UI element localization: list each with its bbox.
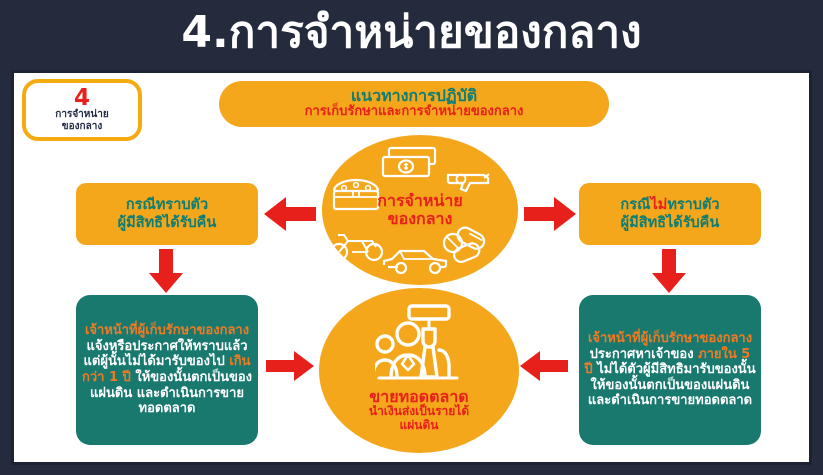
condition-unknown-line2: ผู้มีสิทธิได้รับคืน (621, 215, 720, 231)
auction-gavel-icon (375, 302, 463, 394)
car-icon (380, 243, 452, 275)
header-subtitle: การเก็บรักษาและการจำหน่ายของกลาง (305, 105, 524, 119)
arrow-known-condition-to-result (149, 249, 183, 293)
condition-unknown-suffix: ทราบตัว (667, 197, 719, 213)
result-unknown-seg1: เจ้าหน้าที่ผู้เก็บรักษาของกลาง (588, 331, 752, 346)
auction-node: ขายทอดตลาด นำเงินส่งเป็นรายได้ แผ่นดิน (319, 288, 519, 453)
banknote-icon (380, 145, 440, 179)
arrow-unknown-condition-to-result (652, 249, 686, 293)
step-number: 4 (74, 88, 90, 110)
center-node-line1: การจำหน่าย (377, 191, 462, 210)
center-node-line2: ของกลาง (388, 209, 453, 228)
result-known-owner: เจ้าหน้าที่ผู้เก็บรักษาของกลาง แจ้งหรือป… (76, 295, 258, 445)
header-banner: แนวทางการปฏิบัติ การเก็บรักษาและการจำหน่… (219, 81, 609, 127)
header-title: แนวทางการปฏิบัติ (351, 88, 477, 105)
condition-unknown-owner: กรณีไม่ทราบตัว ผู้มีสิทธิได้รับคืน (579, 183, 761, 245)
condition-known-owner: กรณีทราบตัว ผู้มีสิทธิได้รับคืน (76, 183, 258, 245)
step-label-line1: การจำหน่าย (55, 109, 108, 121)
result-unknown-owner: เจ้าหน้าที่ผู้เก็บรักษาของกลาง ประกาศหาเ… (579, 295, 761, 445)
motorcycle-icon (328, 227, 386, 263)
arrow-center-to-left (264, 197, 316, 231)
step-number-badge: 4 การจำหน่าย ของกลาง (22, 79, 142, 141)
condition-known-line1: กรณีทราบตัว (126, 197, 208, 213)
condition-known-line2: ผู้มีสิทธิได้รับคืน (118, 215, 217, 231)
result-unknown-seg2: ประกาศหาเจ้าของ (590, 347, 698, 362)
page-title: 4.การจำหน่ายของกลาง (0, 0, 823, 70)
auction-subtitle-line2: แผ่นดิน (400, 419, 439, 433)
condition-unknown-prefix: กรณี (620, 197, 650, 213)
center-node: การจำหน่าย ของกลาง (322, 135, 518, 285)
step-label-line2: ของกลาง (62, 121, 102, 133)
result-unknown-seg4: ไม่ได้ตัวผู้มีสิทธิมารับของนั้น ให้ของนั… (588, 362, 756, 408)
arrow-known-result-to-auction (266, 351, 314, 381)
auction-subtitle-line1: นำเงินส่งเป็นรายได้ (369, 405, 469, 419)
result-known-seg1: เจ้าหน้าที่ผู้เก็บรักษาของกลาง (85, 323, 249, 338)
infographic-panel: 4 การจำหน่าย ของกลาง แนวทางการปฏิบัติ กา… (11, 70, 812, 465)
treasure-chest-icon (328, 171, 384, 215)
arrow-unknown-result-to-auction (520, 351, 568, 381)
result-known-seg2: แจ้งหรือประกาศให้ทราบแล้วแต่ผู้นั้นไม่ได… (84, 339, 248, 370)
condition-unknown-negation: ไม่ (650, 197, 667, 213)
arrow-center-to-right (524, 197, 576, 231)
